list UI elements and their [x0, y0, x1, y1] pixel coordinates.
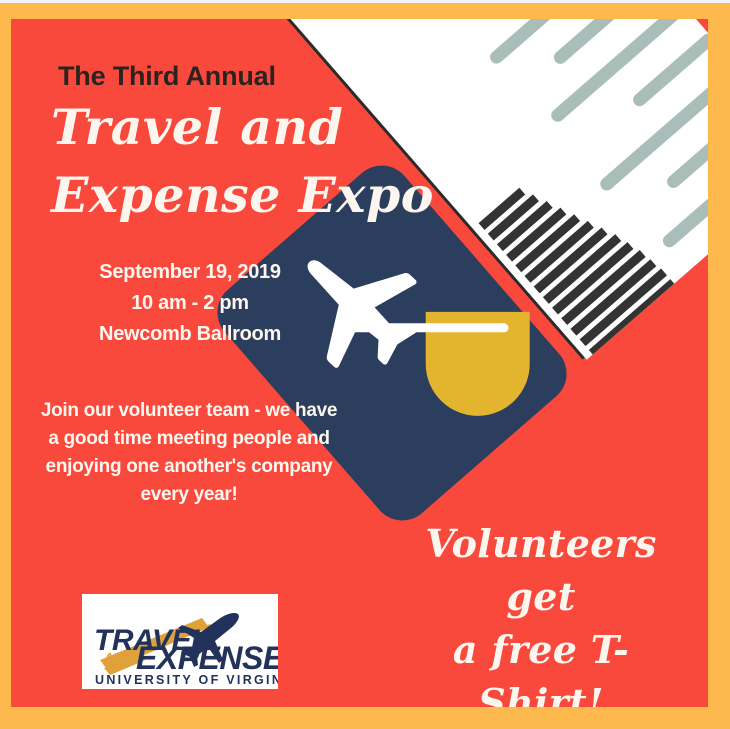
volunteer-blurb: Join our volunteer team - we have a good…: [39, 397, 339, 509]
gold-semicircle-accent: [426, 312, 530, 416]
frame-border-right: [708, 0, 730, 729]
title-line-2: Expense Expo: [51, 161, 471, 229]
barcode-icon: [479, 152, 679, 359]
page-title: Travel and Expense Expo: [51, 93, 471, 229]
event-details: September 19, 2019 10 am - 2 pm Newcomb …: [31, 257, 349, 350]
poster-canvas: The Third Annual Travel and Expense Expo…: [11, 19, 708, 707]
frame-border-left: [0, 0, 11, 729]
event-time: 10 am - 2 pm: [31, 288, 349, 319]
page-kicker: The Third Annual: [58, 61, 276, 92]
logo-word-expense: EXPENSE: [136, 640, 278, 676]
frame-hairline: [0, 0, 730, 3]
incentive-line-2: a free T-Shirt!: [453, 627, 629, 707]
event-flyer: The Third Annual Travel and Expense Expo…: [0, 0, 730, 729]
logo-word-and: AND: [103, 650, 133, 665]
frame-border-bottom: [0, 707, 730, 729]
logo-institution: UNIVERSITY OF VIRGINIA: [95, 673, 278, 687]
organization-logo: TRAVEL AND EXPENSE UNIVERSITY OF VIRGINI…: [82, 594, 278, 689]
title-line-1: Travel and: [51, 98, 343, 156]
incentive-line-1: Volunteers get: [425, 521, 656, 619]
event-date: September 19, 2019: [31, 257, 349, 288]
white-diagonal-stripe: [336, 323, 508, 332]
event-location: Newcomb Ballroom: [31, 319, 349, 350]
incentive-callout: Volunteers get a free T-Shirt!: [391, 517, 691, 707]
